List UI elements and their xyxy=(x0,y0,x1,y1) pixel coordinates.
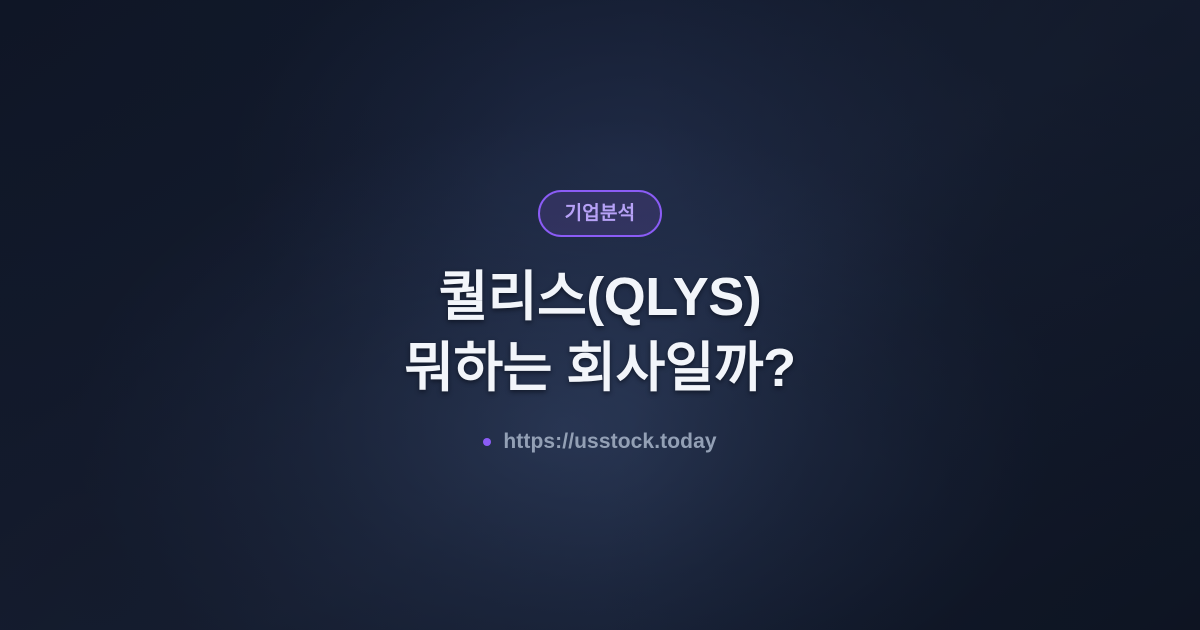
site-url-row[interactable]: https://usstock.today xyxy=(483,431,716,452)
card-content: 기업분석 퀄리스(QLYS) 뭐하는 회사일까? https://usstock… xyxy=(0,0,1200,630)
category-badge-label: 기업분석 xyxy=(565,204,636,223)
dot-icon xyxy=(483,438,491,446)
page-title-line-1: 퀄리스(QLYS) xyxy=(439,266,762,329)
og-share-card: 기업분석 퀄리스(QLYS) 뭐하는 회사일까? https://usstock… xyxy=(0,0,1200,630)
site-url-label: https://usstock.today xyxy=(503,431,716,452)
page-title-line-2: 뭐하는 회사일까? xyxy=(404,337,795,400)
category-badge[interactable]: 기업분석 xyxy=(538,190,663,237)
